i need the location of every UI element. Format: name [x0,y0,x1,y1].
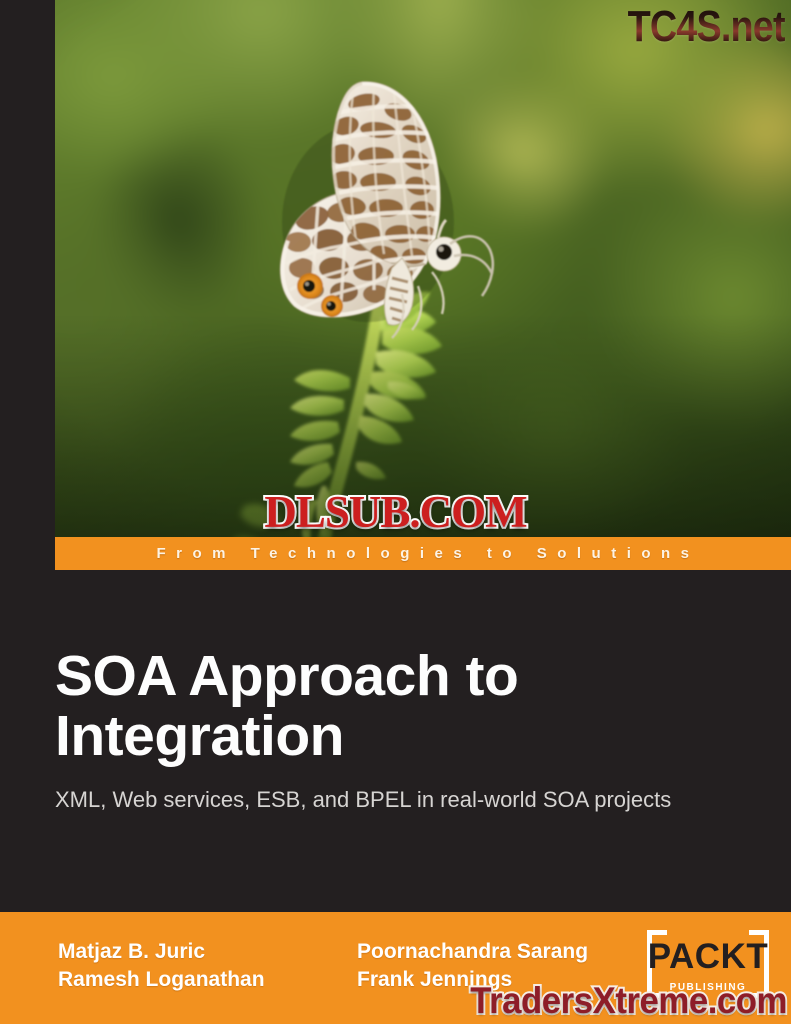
packt-publishing-label: PUBLISHING [647,982,769,993]
photo-vignette [55,0,791,570]
authors-left-column: Matjaz B. Juric Ramesh Loganathan [58,938,265,994]
author-name: Ramesh Loganathan [58,966,265,994]
book-title: SOA Approach to Integration [55,647,775,767]
footer-band: Matjaz B. Juric Ramesh Loganathan Poorna… [0,912,791,1024]
authors-right-column: Poornachandra Sarang Frank Jennings [357,938,588,994]
author-name: Frank Jennings [357,966,588,994]
author-name: Poornachandra Sarang [357,938,588,966]
tagline-text: From Technologies to Solutions [55,545,791,562]
tagline-band: From Technologies to Solutions [55,537,791,570]
book-cover: DLSUB.COM TC4S.net From Technologies to … [0,0,791,1024]
author-name: Matjaz B. Juric [58,938,265,966]
cover-photo [55,0,791,570]
packt-wordmark: PACKT [647,937,769,977]
book-subtitle: XML, Web services, ESB, and BPEL in real… [55,787,775,813]
packt-publishing-logo: PACKT PUBLISHING [647,930,769,998]
